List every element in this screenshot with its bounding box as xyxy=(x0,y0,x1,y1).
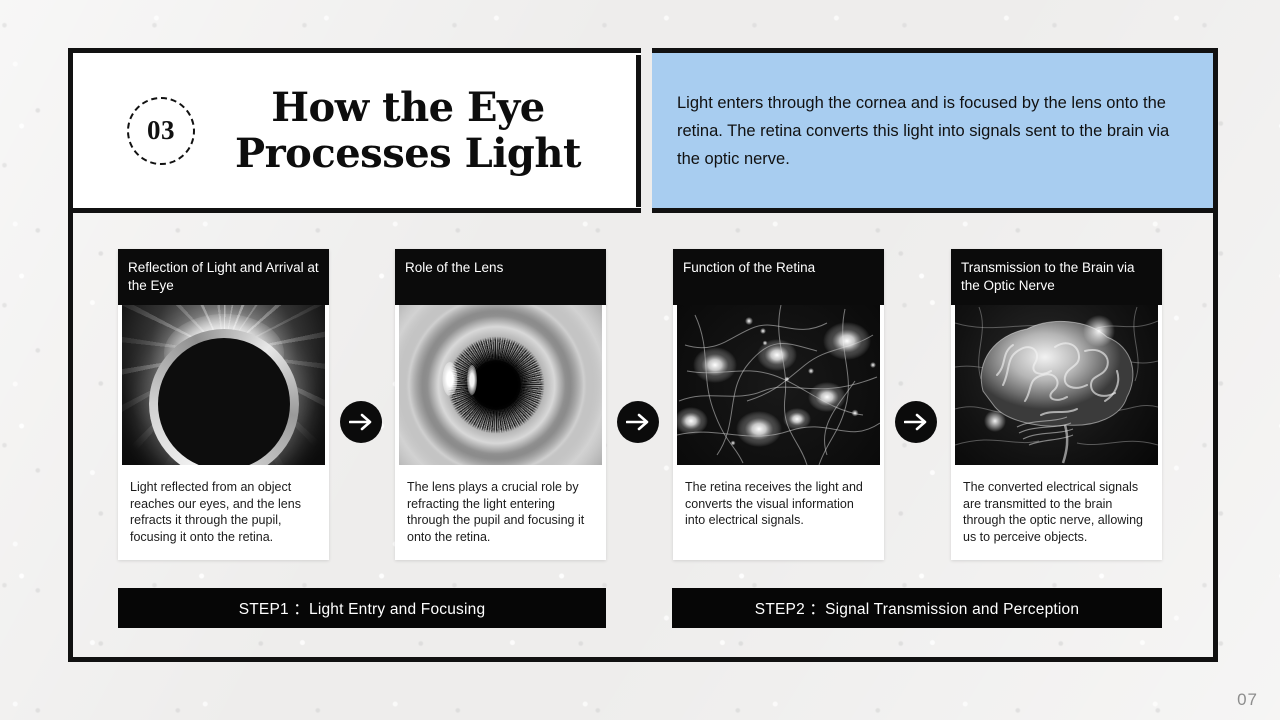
brain-photo xyxy=(955,305,1158,465)
page-title: How the Eye Processes Light xyxy=(195,85,641,177)
card-reflection-of-light[interactable]: Reflection of Light and Arrival at the E… xyxy=(118,249,329,560)
card-title: Function of the Retina xyxy=(673,249,884,305)
eye-highlight-primary xyxy=(442,362,457,396)
neuron-network-illustration xyxy=(677,305,880,465)
slide-number-text: 03 xyxy=(147,115,175,146)
frame-bottom-border xyxy=(68,657,1218,662)
title-panel-right-edge xyxy=(636,55,641,207)
light-core-glow xyxy=(164,314,284,392)
summary-text: Light enters through the cornea and is f… xyxy=(652,89,1213,173)
step-bar-1: STEP1 ：Light Entry and Focusing xyxy=(118,588,606,628)
arrow-right-icon xyxy=(895,401,937,443)
frame-right-border xyxy=(1213,213,1218,662)
summary-panel: Light enters through the cornea and is f… xyxy=(652,48,1218,213)
slide-number-badge: 03 xyxy=(127,97,195,165)
card-body-text: The retina receives the light and conver… xyxy=(673,465,884,560)
step-bar-2-label: STEP2 ：Signal Transmission and Perceptio… xyxy=(755,597,1079,619)
arrow-right-glyph xyxy=(626,413,650,431)
eye-pupil xyxy=(471,360,521,410)
step-bar-1-label: STEP1 ：Light Entry and Focusing xyxy=(239,597,486,619)
page-title-line-1: How the Eye xyxy=(195,85,621,131)
page-title-line-2: Processes Light xyxy=(195,131,621,177)
slide-canvas: 03 How the Eye Processes Light Light ent… xyxy=(0,0,1280,720)
card-title: Reflection of Light and Arrival at the E… xyxy=(118,249,329,305)
light-burst-photo xyxy=(122,305,325,465)
card-body-text: The lens plays a crucial role by refract… xyxy=(395,465,606,560)
card-body-text: Light reflected from an object reaches o… xyxy=(118,465,329,560)
cards-row: Reflection of Light and Arrival at the E… xyxy=(118,249,1163,561)
card-body-text: The converted electrical signals are tra… xyxy=(951,465,1162,560)
slide-title-panel: 03 How the Eye Processes Light xyxy=(68,48,641,213)
card-transmission-to-the-brain[interactable]: Transmission to the Brain via the Optic … xyxy=(951,249,1162,560)
eye-highlight-secondary xyxy=(467,365,477,395)
page-number: 07 xyxy=(1237,690,1258,710)
neurons-photo xyxy=(677,305,880,465)
arrow-right-icon xyxy=(340,401,382,443)
eye-macro-photo xyxy=(399,305,602,465)
card-role-of-the-lens[interactable]: Role of the Lens The lens plays a crucia… xyxy=(395,249,606,560)
step-bar-2: STEP2 ：Signal Transmission and Perceptio… xyxy=(672,588,1162,628)
card-function-of-the-retina[interactable]: Function of the Retina xyxy=(673,249,884,560)
arrow-right-icon xyxy=(617,401,659,443)
arrow-right-glyph xyxy=(904,413,928,431)
brain-illustration xyxy=(955,305,1158,465)
arrow-right-glyph xyxy=(349,413,373,431)
card-title: Role of the Lens xyxy=(395,249,606,305)
card-title: Transmission to the Brain via the Optic … xyxy=(951,249,1162,305)
